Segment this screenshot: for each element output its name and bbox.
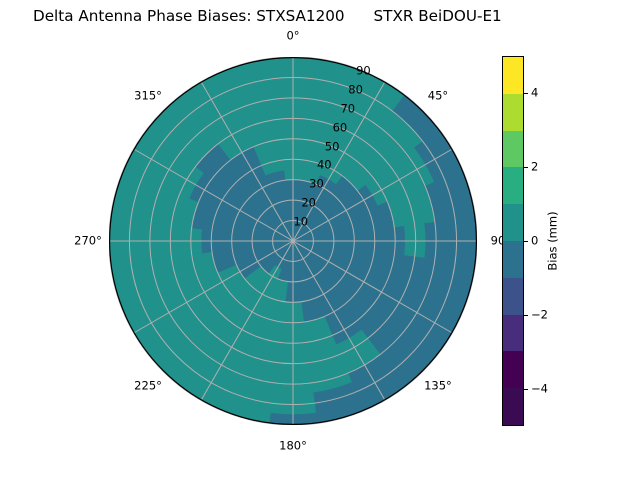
radial-tick-label-70: 70 [340,102,355,115]
colorbar-band [503,204,523,241]
colorbar-tick-mark [524,93,528,94]
colorbar[interactable] [502,56,524,426]
colorbar-tick-label: −2 [531,309,548,322]
colorbar-band [503,388,523,425]
colorbar-tick-mark [524,241,528,242]
colorbar-band [503,131,523,168]
theta-tick-label-315: 315° [134,90,162,103]
colorbar-axis-label: Bias (mm) [547,211,560,270]
radial-tick-label-10: 10 [293,216,308,229]
colorbar-tick-label: 2 [531,161,538,174]
page-title: Delta Antenna Phase Biases: STXSA1200 ST… [33,6,502,26]
colorbar-tick-mark [524,315,528,316]
radial-tick-label-40: 40 [317,159,332,172]
radial-tick-label-90: 90 [356,65,371,78]
radial-tick-label-80: 80 [348,83,363,96]
theta-tick-label-225: 225° [134,379,162,392]
colorbar-tick-label: −4 [531,383,548,396]
theta-tick-label-0: 0° [286,30,299,43]
colorbar-band [503,57,523,94]
theta-tick-label-45: 45° [428,90,448,103]
radial-tick-label-30: 30 [309,178,324,191]
polar-sky-plot[interactable]: 102030405060708090 [109,57,477,425]
figure-canvas: Delta Antenna Phase Biases: STXSA1200 ST… [0,0,640,480]
colorbar-tick-mark [524,389,528,390]
theta-tick-label-180: 180° [279,440,307,453]
radial-tick-label-50: 50 [325,140,340,153]
colorbar-band [503,351,523,388]
colorbar-tick-label: 0 [531,235,538,248]
theta-tick-label-270: 270° [74,235,102,248]
colorbar-band [503,278,523,315]
colorbar-band [503,241,523,278]
colorbar-tick-label: 4 [531,87,538,100]
colorbar-band [503,94,523,131]
colorbar-band [503,167,523,204]
polar-plot-svg [109,57,477,425]
radial-tick-label-20: 20 [301,197,316,210]
radial-tick-label-60: 60 [333,121,348,134]
theta-tick-label-135: 135° [424,379,452,392]
colorbar-band [503,315,523,352]
colorbar-tick-mark [524,167,528,168]
colorbar-gradient [502,56,524,426]
